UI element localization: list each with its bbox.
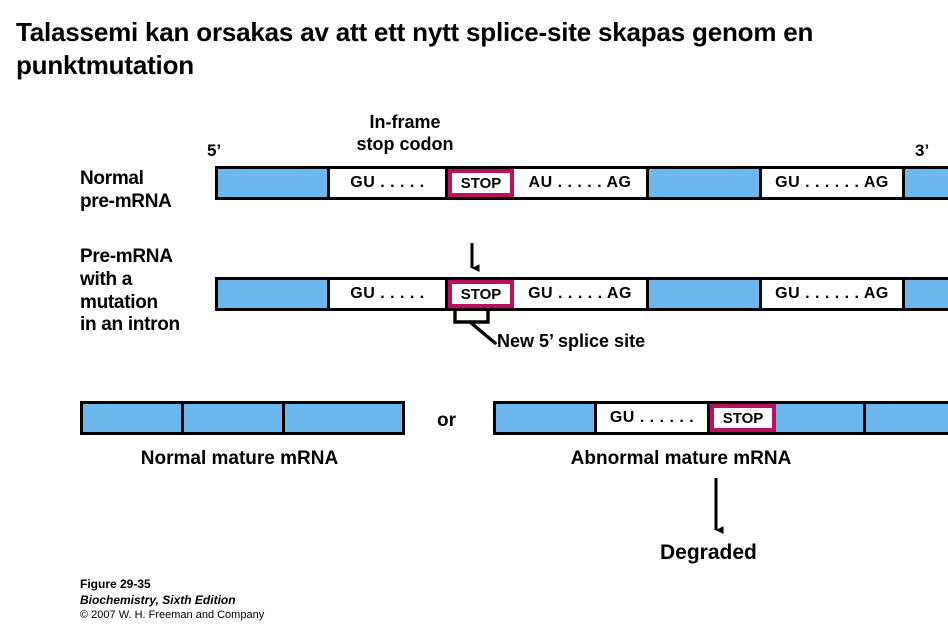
five-prime-label: 5’ [207,141,221,161]
normal-mature-caption: Normal mature mRNA [80,448,399,471]
figure-canvas: Talassemi kan orsakas av att ett nytt sp… [0,0,948,638]
row-label-line4: in an intron [80,314,180,337]
normal-pre-mrna-stop-codon-2: STOP [448,169,514,197]
normal-pre-mrna-intron-5: GU . . . . . . AG [762,169,905,197]
mutated-pre-mrna-intron-5: GU . . . . . . AG [762,280,905,308]
mrna-bar-normal-mature [80,401,405,435]
row-label-line1: Pre-mRNA [80,246,180,269]
page-title: Talassemi kan orsakas av att ett nytt sp… [16,16,916,83]
in-frame-stop-line1: In-frame [305,112,505,134]
row-label-line2: pre-mRNA [80,191,172,214]
normal-mature-mrna-exon-0 [83,404,184,432]
credit-copyright: © 2007 W. H. Freeman and Company [80,608,264,624]
mutated-pre-mrna-exon-0 [218,280,330,308]
normal-mature-mrna-exon-2 [285,404,402,432]
row-label-mutated-pre-mrna: Pre-mRNA with a mutation in an intron [80,246,180,337]
row-label-line3: mutation [80,292,180,315]
in-frame-stop-annotation: In-frame stop codon [305,112,505,155]
figure-credit: Figure 29-35 Biochemistry, Sixth Edition… [80,576,264,624]
abnormal-mature-mrna-exon-4 [866,404,948,432]
mutated-pre-mrna-exon-4 [649,280,762,308]
abnormal-mature-mrna-intron-1: GU . . . . . . [597,404,710,432]
normal-mature-mrna-exon-1 [184,404,285,432]
row-label-normal-pre-mrna: Normal pre-mRNA [80,168,172,214]
degraded-label: Degraded [660,540,757,565]
mrna-bar-abnormal-mature: GU . . . . . .STOP [493,401,948,435]
new-splice-site-label: New 5’ splice site [497,331,645,353]
normal-pre-mrna-exon-6 [905,169,948,197]
abnormal-mature-mrna-exon-0 [496,404,597,432]
mrna-bar-mutated-pre-mrna: GU . . . . .STOPGU . . . . . AGGU . . . … [215,277,948,311]
abnormal-mature-mrna-exon-3 [776,404,866,432]
normal-pre-mrna-intron-3: AU . . . . . AG [514,169,649,197]
credit-figure: Figure 29-35 [80,576,264,592]
three-prime-label: 3’ [915,141,929,161]
mrna-bar-normal-pre-mrna: GU . . . . .STOPAU . . . . . AGGU . . . … [215,166,948,200]
credit-book: Biochemistry, Sixth Edition [80,592,264,608]
normal-pre-mrna-intron-1: GU . . . . . [330,169,448,197]
new-splice-site-leader [470,322,495,343]
normal-pre-mrna-exon-4 [649,169,762,197]
mutated-pre-mrna-exon-6 [905,280,948,308]
new-splice-site-bracket [455,312,488,322]
normal-pre-mrna-exon-0 [218,169,330,197]
mutated-pre-mrna-stop-codon-2: STOP [448,280,514,308]
mutated-pre-mrna-intron-3: GU . . . . . AG [514,280,649,308]
abnormal-mature-caption: Abnormal mature mRNA [493,448,869,471]
row-label-line2: with a [80,269,180,292]
in-frame-stop-line2: stop codon [305,134,505,156]
abnormal-mature-mrna-stop-codon-2: STOP [710,404,776,432]
mutated-pre-mrna-intron-1: GU . . . . . [330,280,448,308]
or-label: or [437,410,456,433]
row-label-line1: Normal [80,168,172,191]
